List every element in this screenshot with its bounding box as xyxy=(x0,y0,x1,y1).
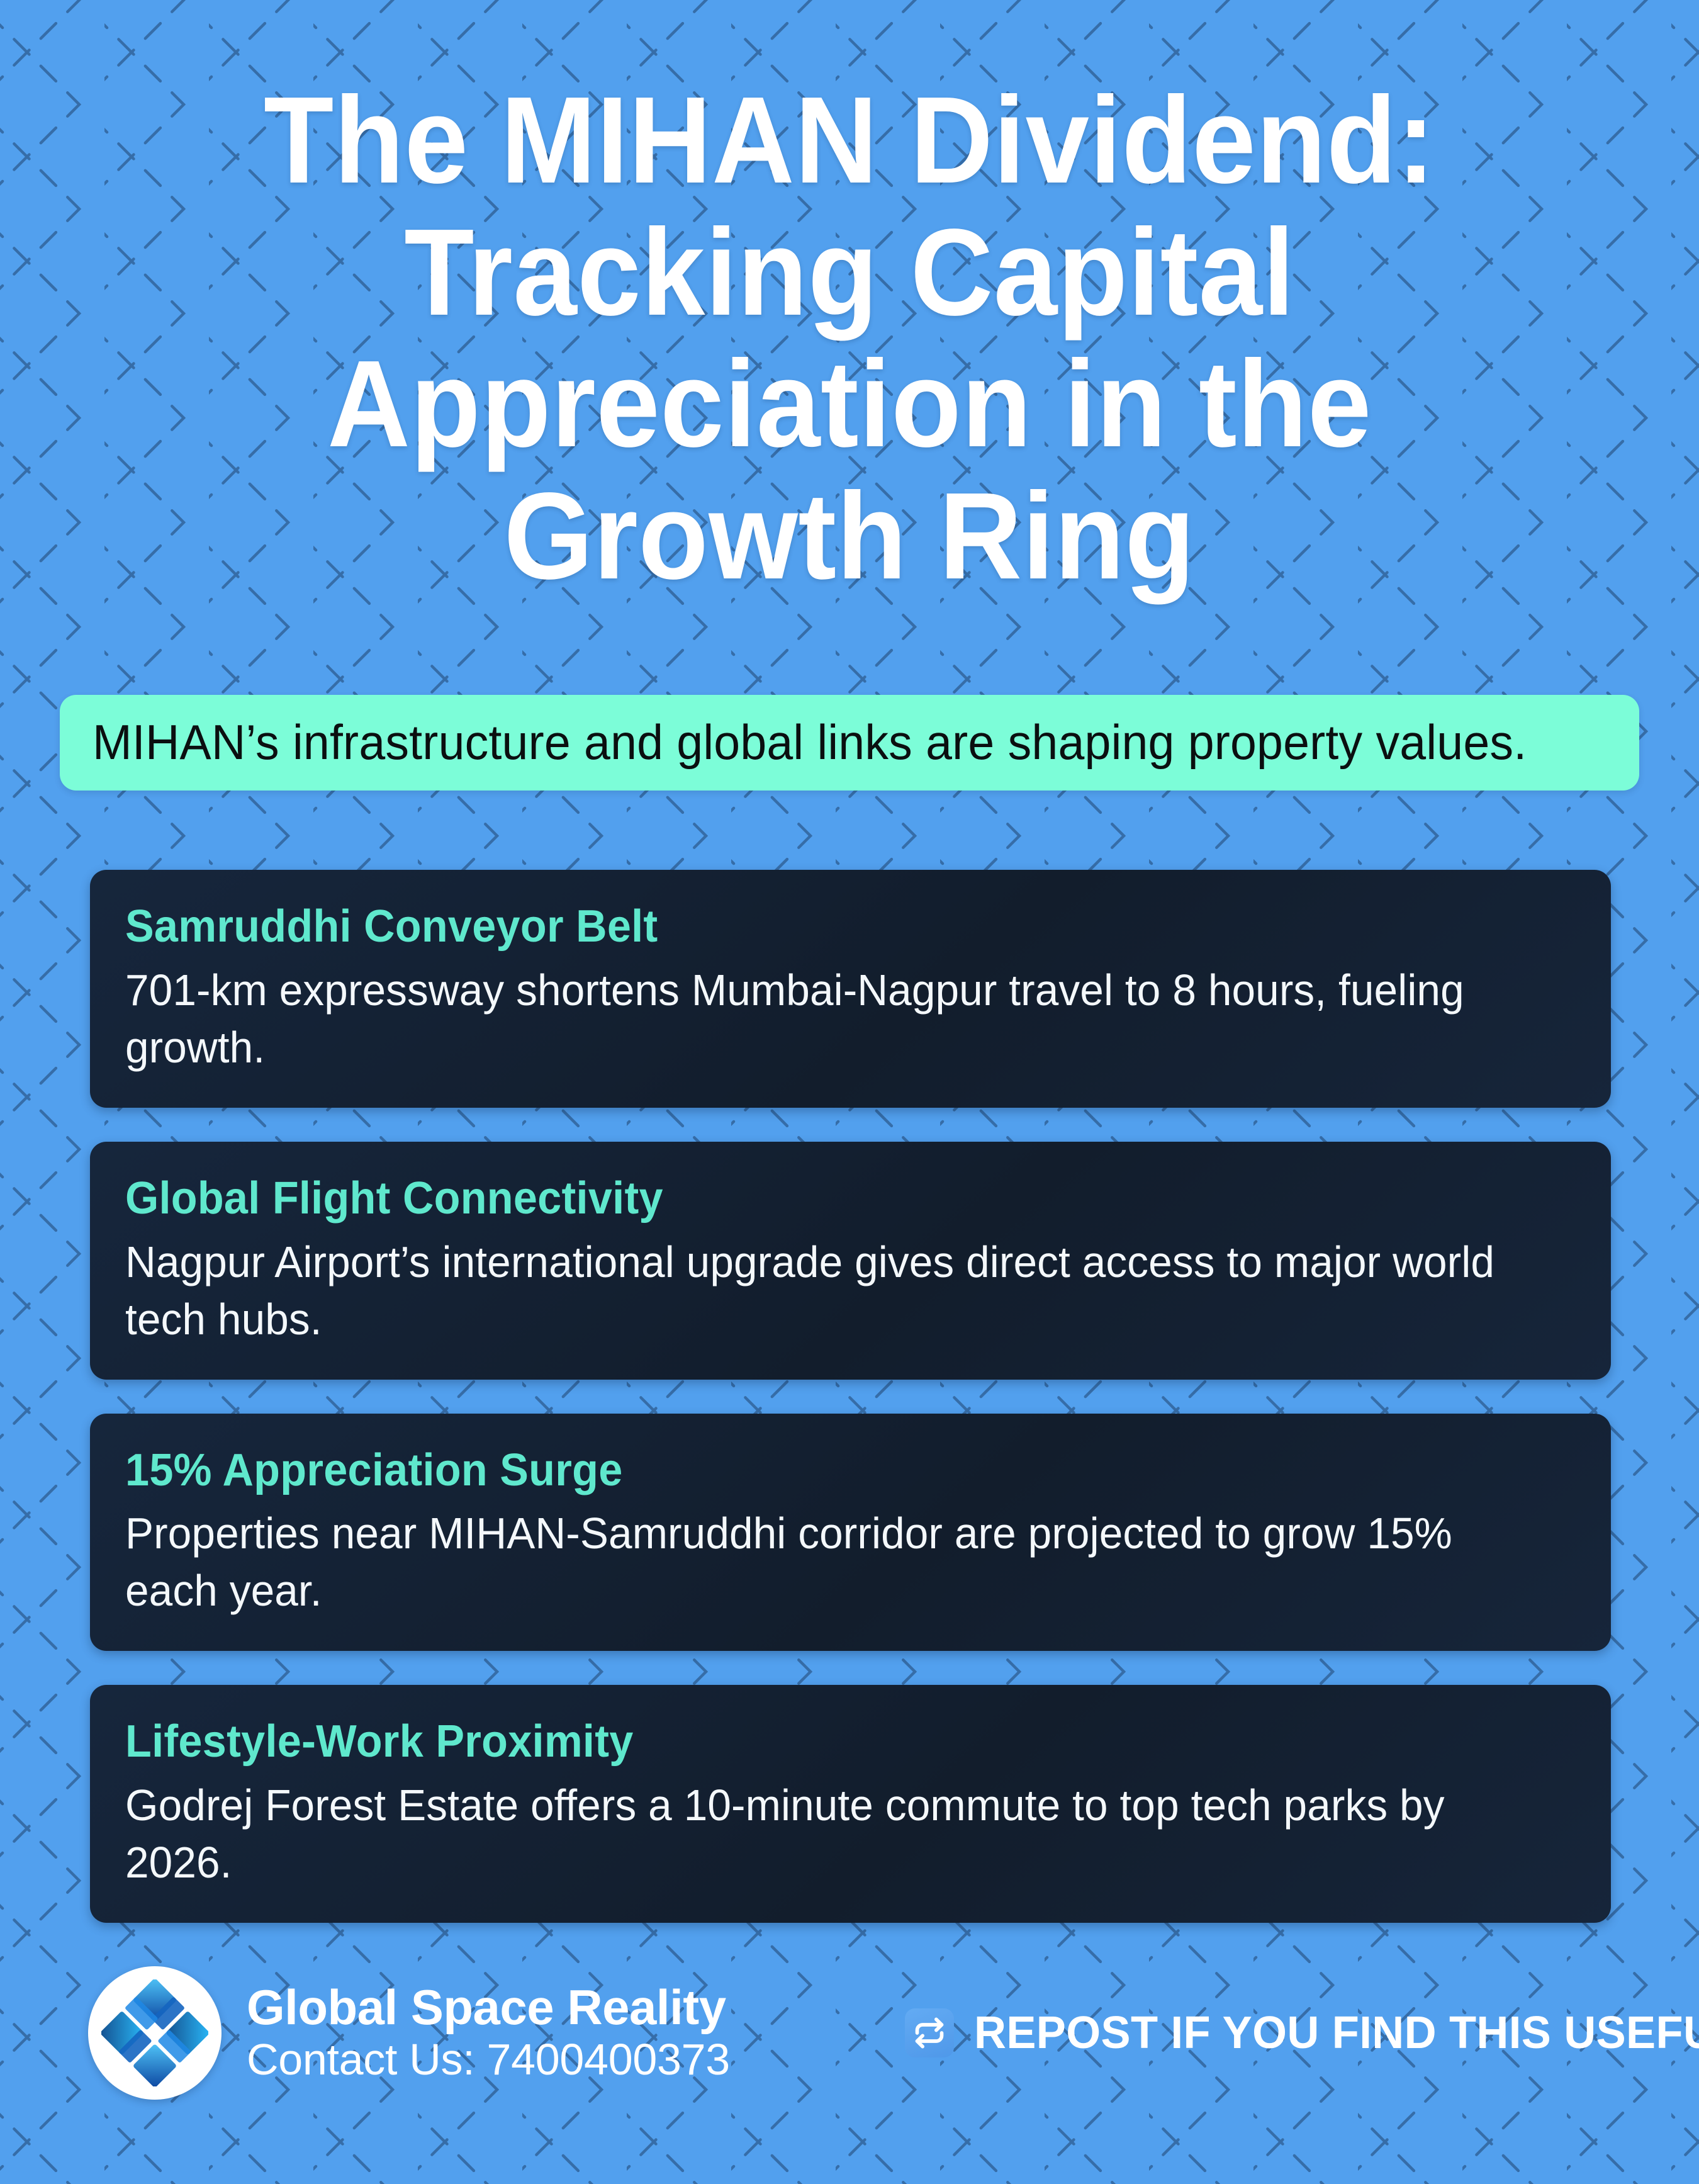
brand-text: Global Space Reality Contact Us: 7400400… xyxy=(247,1982,730,2085)
info-card: Lifestyle-Work Proximity Godrej Forest E… xyxy=(90,1685,1611,1923)
card-body: Godrej Forest Estate offers a 10-minute … xyxy=(125,1777,1525,1891)
brand-logo xyxy=(88,1966,221,2100)
card-body: Properties near MIHAN-Samruddhi corridor… xyxy=(125,1505,1525,1619)
card-heading: Lifestyle-Work Proximity xyxy=(125,1718,1503,1767)
info-card: Samruddhi Conveyor Belt 701-km expresswa… xyxy=(90,870,1611,1108)
brand-name: Global Space Reality xyxy=(247,1982,730,2034)
page-title-container: The MIHAN Dividend: Tracking Capital App… xyxy=(0,74,1699,602)
card-body: 701-km expressway shortens Mumbai-Nagpur… xyxy=(125,962,1525,1076)
infographic-poster: The MIHAN Dividend: Tracking Capital App… xyxy=(0,0,1699,2184)
info-card: 15% Appreciation Surge Properties near M… xyxy=(90,1414,1611,1652)
info-card-list: Samruddhi Conveyor Belt 701-km expresswa… xyxy=(90,870,1611,1923)
diamond-globe-logo-icon xyxy=(101,1979,208,2086)
card-heading: Global Flight Connectivity xyxy=(125,1174,1503,1224)
repost-cta[interactable]: REPOST IF YOU FIND THIS USEFUL xyxy=(905,2008,1699,2057)
card-body: Nagpur Airport’s international upgrade g… xyxy=(125,1234,1525,1348)
card-heading: 15% Appreciation Surge xyxy=(125,1446,1503,1495)
repost-cta-label: REPOST IF YOU FIND THIS USEFUL xyxy=(974,2010,1699,2056)
footer: Global Space Reality Contact Us: 7400400… xyxy=(0,1920,1699,2184)
card-heading: Samruddhi Conveyor Belt xyxy=(125,903,1503,952)
page-title: The MIHAN Dividend: Tracking Capital App… xyxy=(130,74,1569,602)
subtitle-text: MIHAN’s infrastructure and global links … xyxy=(93,717,1527,768)
brand-contact: Contact Us: 7400400373 xyxy=(247,2035,730,2084)
brand-block: Global Space Reality Contact Us: 7400400… xyxy=(88,1966,730,2100)
subtitle-banner: MIHAN’s infrastructure and global links … xyxy=(60,695,1639,791)
info-card: Global Flight Connectivity Nagpur Airpor… xyxy=(90,1142,1611,1380)
repost-icon xyxy=(905,2008,954,2057)
